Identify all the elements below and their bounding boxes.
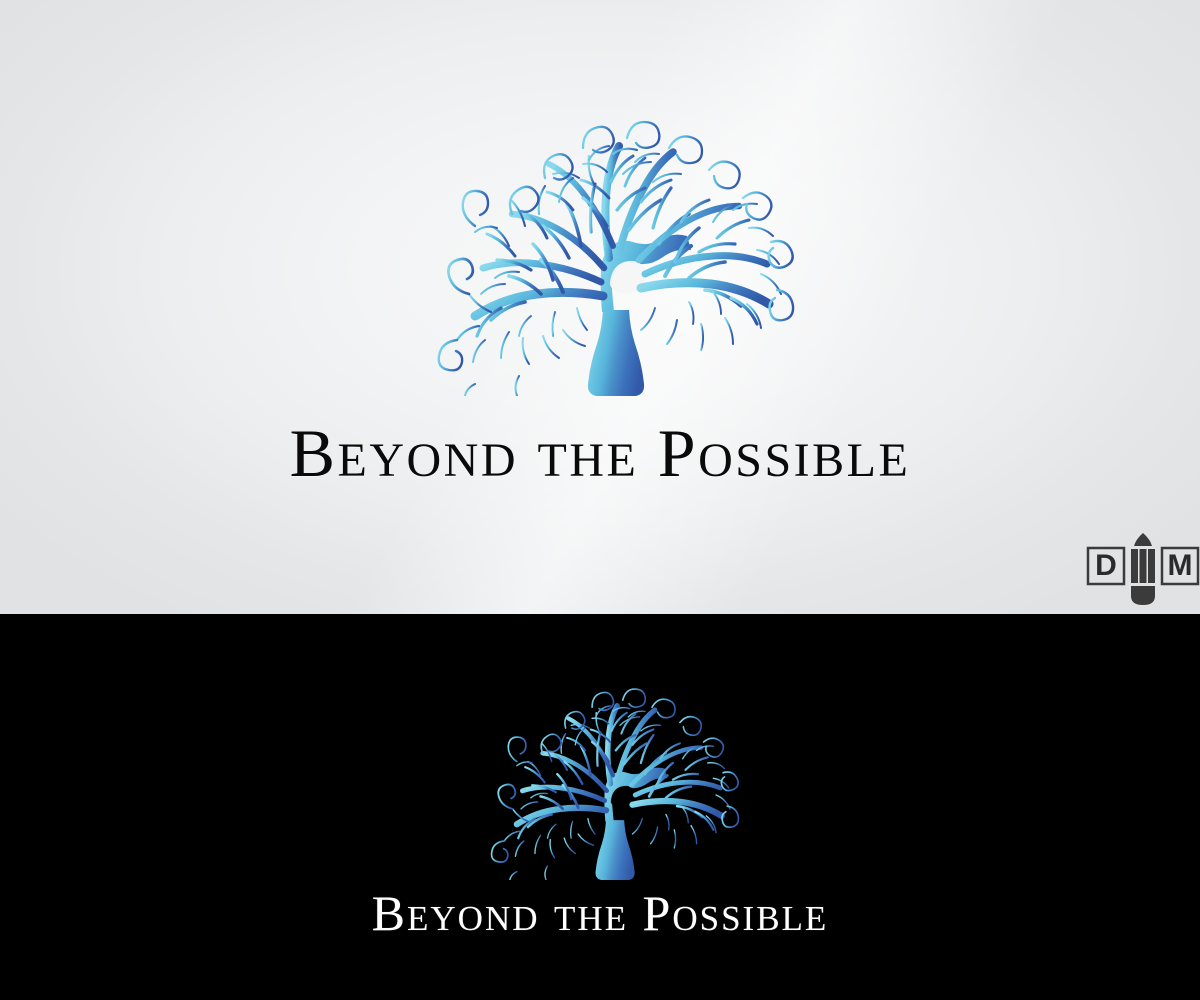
- wordmark-light: Beyond the Possible: [0, 414, 1200, 493]
- designer-watermark: D M: [1086, 531, 1200, 607]
- pencil-icon: [1131, 533, 1155, 605]
- logo-presentation-board: Beyond the Possible D M: [0, 0, 1200, 1000]
- svg-text:M: M: [1168, 549, 1193, 582]
- watermark-d-box: D: [1088, 548, 1124, 584]
- watermark-m-box: M: [1162, 548, 1198, 584]
- brain-tree-logo-dark: [448, 664, 778, 880]
- wordmark-dark: Beyond the Possible: [0, 884, 1200, 942]
- svg-text:D: D: [1095, 549, 1117, 582]
- brain-tree-logo-light: [413, 86, 813, 396]
